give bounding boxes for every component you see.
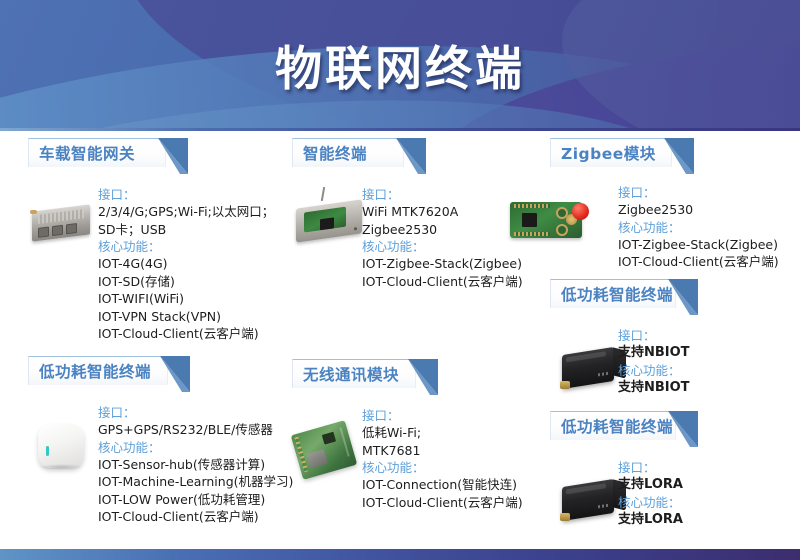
core-function-line: IOT-Machine-Learning(机器学习) (98, 473, 293, 491)
core-function-line: IOT-4G(4G) (98, 255, 274, 273)
ribbon-box: 低功耗智能终端 (28, 356, 168, 385)
core-function-line: IOT-Cloud-Client(云客户端) (98, 508, 293, 526)
card-low-power-nbiot[interactable]: 低功耗智能终端 接口： 支持NB (550, 279, 800, 416)
device-image-wifi-module (292, 421, 368, 483)
device-image-zigbee-board (508, 194, 604, 250)
card-title: 车载智能网关 (39, 142, 135, 164)
interface-line: 支持LORA (618, 476, 683, 494)
device-image-smart-terminal (292, 196, 372, 252)
card-body: 接口： 2/3/4/G;GPS;Wi-Fi;以太网口； SD卡；USB 核心功能… (28, 170, 290, 335)
card-ribbon: Zigbee模块 (550, 138, 800, 168)
card-title: 无线通讯模块 (303, 363, 399, 385)
card-low-power-lora[interactable]: 低功耗智能终端 接口： 支持LO (550, 411, 800, 548)
card-ribbon: 无线通讯模块 (292, 359, 542, 389)
core-function-label: 核心功能： (362, 238, 523, 255)
card-body: 接口： 支持LORA 核心功能： 支持LORA (550, 443, 800, 548)
card-ribbon: 低功耗智能终端 (28, 356, 290, 386)
interface-label: 接口： (98, 186, 274, 203)
core-function-line: IOT-Cloud-Client(云客户端) (618, 253, 779, 271)
core-function-line: IOT-Cloud-Client(云客户端) (362, 494, 523, 512)
interface-line: MTK7681 (362, 442, 523, 460)
card-ribbon: 车载智能网关 (28, 138, 290, 168)
core-function-line: IOT-Zigbee-Stack(Zigbee) (362, 255, 523, 273)
interface-line: WiFi MTK7620A (362, 203, 523, 221)
interface-label: 接口： (98, 404, 293, 421)
core-function-line: IOT-Cloud-Client(云客户端) (98, 325, 274, 343)
card-ribbon: 智能终端 (292, 138, 542, 168)
core-function-label: 核心功能： (362, 459, 523, 476)
interface-line: GPS+GPS/RS232/BLE/传感器 (98, 421, 293, 439)
interface-label: 接口： (618, 459, 683, 476)
core-function-label: 核心功能： (618, 494, 683, 511)
card-specs: 接口： Zigbee2530 核心功能： IOT-Zigbee-Stack(Zi… (618, 184, 779, 271)
core-function-line: IOT-WIFI(WiFi) (98, 290, 274, 308)
card-body: 接口： 低耗Wi-Fi; MTK7681 核心功能： IOT-Connectio… (292, 391, 542, 521)
core-function-line: IOT-VPN Stack(VPN) (98, 308, 274, 326)
core-function-line: IOT-Connection(智能快连) (362, 476, 523, 494)
core-function-label: 核心功能： (98, 238, 274, 255)
poster-page: 物联网终端 车载智能网关 (0, 0, 800, 560)
card-low-power-sensor[interactable]: 低功耗智能终端 接口： GPS+ (28, 356, 290, 533)
device-image-iot-gateway (28, 198, 104, 254)
card-specs: 接口： 低耗Wi-Fi; MTK7681 核心功能： IOT-Connectio… (362, 407, 523, 511)
card-ribbon: 低功耗智能终端 (550, 411, 800, 441)
core-function-label: 核心功能： (618, 362, 690, 379)
card-title: 低功耗智能终端 (561, 283, 673, 305)
ribbon-box: 无线通讯模块 (292, 359, 416, 388)
core-function-line: IOT-SD(存储) (98, 273, 274, 291)
ribbon-box: 低功耗智能终端 (550, 411, 676, 440)
header-banner: 物联网终端 (0, 0, 800, 131)
card-title: 低功耗智能终端 (561, 415, 673, 437)
card-ribbon: 低功耗智能终端 (550, 279, 800, 309)
card-specs: 接口： GPS+GPS/RS232/BLE/传感器 核心功能： IOT-Sens… (98, 404, 293, 526)
card-smart-terminal[interactable]: 智能终端 接口： WiFi MT (292, 138, 542, 300)
card-specs: 接口： WiFi MTK7620A Zigbee2530 核心功能： IOT-Z… (362, 186, 523, 290)
interface-label: 接口： (618, 184, 779, 201)
card-body: 接口： WiFi MTK7620A Zigbee2530 核心功能： IOT-Z… (292, 170, 542, 300)
core-function-line: IOT-Sensor-hub(传感器计算) (98, 456, 293, 474)
core-function-line: 支持LORA (618, 511, 683, 529)
interface-line: Zigbee2530 (362, 221, 523, 239)
ribbon-box: Zigbee模块 (550, 138, 672, 167)
card-body: 接口： 支持NBIOT 核心功能： 支持NBIOT (550, 311, 800, 416)
cards-board: 车载智能网关 接口： 2/3/4 (0, 131, 800, 549)
card-specs: 接口： 2/3/4/G;GPS;Wi-Fi;以太网口； SD卡；USB 核心功能… (98, 186, 274, 343)
footer-bar (0, 549, 800, 560)
card-wireless-module[interactable]: 无线通讯模块 接口： 低耗Wi-Fi; (292, 359, 542, 521)
device-image-white-sensor (28, 418, 104, 478)
interface-line: 2/3/4/G;GPS;Wi-Fi;以太网口； (98, 203, 274, 221)
interface-label: 接口： (362, 407, 523, 424)
card-zigbee-module[interactable]: Zigbee模块 (550, 138, 800, 295)
core-function-line: IOT-Cloud-Client(云客户端) (362, 273, 523, 291)
card-body: 接口： Zigbee2530 核心功能： IOT-Zigbee-Stack(Zi… (550, 170, 800, 295)
core-function-line: 支持NBIOT (618, 379, 690, 397)
interface-label: 接口： (618, 327, 690, 344)
card-specs: 接口： 支持NBIOT 核心功能： 支持NBIOT (618, 327, 690, 396)
card-title: 低功耗智能终端 (39, 360, 151, 382)
interface-line: 低耗Wi-Fi; (362, 424, 523, 442)
ribbon-box: 智能终端 (292, 138, 404, 167)
card-title: 智能终端 (303, 142, 367, 164)
interface-label: 接口： (362, 186, 523, 203)
card-specs: 接口： 支持LORA 核心功能： 支持LORA (618, 459, 683, 528)
interface-line: Zigbee2530 (618, 201, 779, 219)
card-body: 接口： GPS+GPS/RS232/BLE/传感器 核心功能： IOT-Sens… (28, 388, 290, 533)
ribbon-box: 车载智能网关 (28, 138, 166, 167)
card-vehicle-gateway[interactable]: 车载智能网关 接口： 2/3/4 (28, 138, 290, 335)
core-function-label: 核心功能： (618, 219, 779, 236)
card-title: Zigbee模块 (561, 142, 656, 164)
interface-line: SD卡；USB (98, 221, 274, 239)
ribbon-box: 低功耗智能终端 (550, 279, 676, 308)
interface-line: 支持NBIOT (618, 344, 690, 362)
core-function-line: IOT-LOW Power(低功耗管理) (98, 491, 293, 509)
core-function-line: IOT-Zigbee-Stack(Zigbee) (618, 236, 779, 254)
page-title: 物联网终端 (0, 30, 800, 99)
core-function-label: 核心功能： (98, 439, 293, 456)
